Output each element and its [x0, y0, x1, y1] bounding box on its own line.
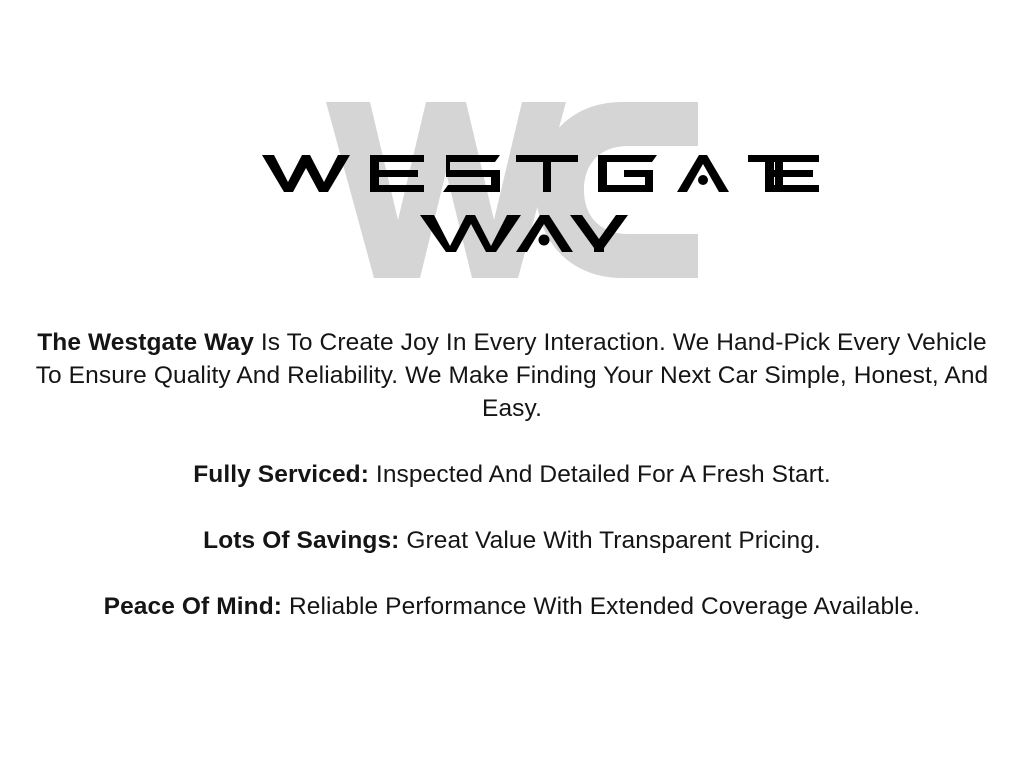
promo-page: The Westgate Way Is To Create Joy In Eve…: [0, 0, 1024, 768]
logo-block: [0, 100, 1024, 300]
letter-a2: [516, 215, 573, 252]
paragraph-fully-serviced-rest: Inspected And Detailed For A Fresh Start…: [369, 461, 831, 488]
letter-g1: [598, 155, 657, 192]
letter-y1: [570, 215, 628, 252]
letter-e2: [765, 155, 819, 192]
letter-w1: [262, 155, 350, 192]
paragraph-lots-of-savings-lead: Lots Of Savings:: [203, 527, 399, 554]
paragraph-fully-serviced: Fully Serviced: Inspected And Detailed F…: [22, 458, 1002, 491]
paragraph-intro-lead: The Westgate Way: [37, 329, 254, 356]
paragraph-lots-of-savings: Lots Of Savings: Great Value With Transp…: [22, 524, 1002, 557]
letter-s1: [443, 155, 500, 192]
paragraph-peace-of-mind-lead: Peace Of Mind:: [104, 593, 282, 620]
letter-e1: [370, 155, 424, 192]
paragraph-intro: The Westgate Way Is To Create Joy In Eve…: [22, 326, 1002, 425]
letter-t1: [516, 155, 578, 192]
letter-w2: [420, 215, 521, 252]
paragraph-lots-of-savings-rest: Great Value With Transparent Pricing.: [399, 527, 820, 554]
body-copy: The Westgate Way Is To Create Joy In Eve…: [22, 326, 1002, 623]
letter-a1: [677, 155, 729, 192]
paragraph-fully-serviced-lead: Fully Serviced:: [193, 461, 369, 488]
paragraph-peace-of-mind: Peace Of Mind: Reliable Performance With…: [22, 590, 1002, 623]
paragraph-peace-of-mind-rest: Reliable Performance With Extended Cover…: [282, 593, 920, 620]
westgate-way-wordmark: [0, 100, 1024, 300]
